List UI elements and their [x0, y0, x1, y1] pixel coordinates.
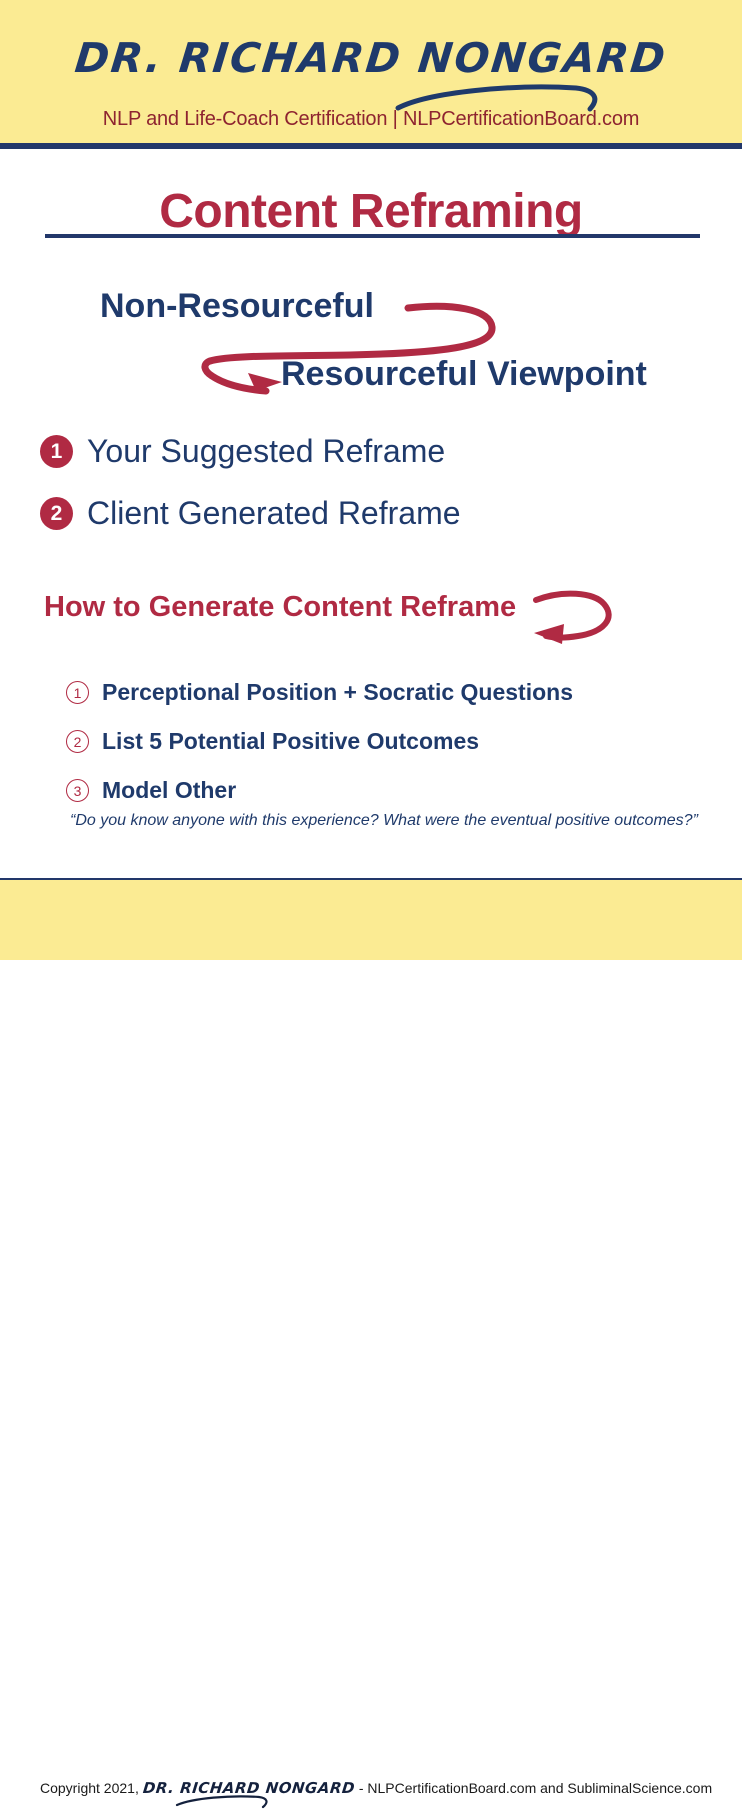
- list-item: 2 Client Generated Reframe: [40, 482, 700, 544]
- step-label: Perceptional Position + Socratic Questio…: [102, 679, 573, 706]
- number-badge: 2: [40, 497, 73, 530]
- reframe-flow: Non-Resourceful Resourceful Viewpoint: [0, 275, 742, 410]
- page-title: Content Reframing: [0, 184, 742, 239]
- step-number-badge: 3: [66, 779, 89, 802]
- header-tagline: NLP and Life-Coach Certification | NLPCe…: [0, 108, 742, 131]
- list-item: 1 Perceptional Position + Socratic Quest…: [66, 668, 726, 717]
- list-item: 1 Your Suggested Reframe: [40, 420, 700, 482]
- example-quote: “Do you know anyone with this experience…: [70, 812, 698, 830]
- reframe-type-list: 1 Your Suggested Reframe 2 Client Genera…: [40, 420, 700, 544]
- header-band: DR. RICHARD NONGARD NLP and Life-Coach C…: [0, 0, 742, 143]
- footer-brand-wrap: DR. RICHARD NONGARD: [143, 1779, 355, 1798]
- footer-credit-line: Copyright 2021, DR. RICHARD NONGARD - NL…: [40, 1779, 712, 1798]
- flow-to-label: Resourceful Viewpoint: [281, 355, 647, 394]
- howto-steps-list: 1 Perceptional Position + Socratic Quest…: [66, 668, 726, 815]
- list-item-label: Your Suggested Reframe: [87, 433, 445, 470]
- worksheet-page: DR. RICHARD NONGARD NLP and Life-Coach C…: [0, 0, 742, 960]
- title-underline: [45, 234, 700, 238]
- list-item: 2 List 5 Potential Positive Outcomes: [66, 717, 726, 766]
- header-divider: [0, 143, 742, 149]
- list-item-label: Client Generated Reframe: [87, 495, 461, 532]
- step-number-badge: 2: [66, 730, 89, 753]
- list-item: 3 Model Other: [66, 766, 726, 815]
- curved-arrow-back-left-icon: [528, 588, 620, 650]
- step-label: Model Other: [102, 777, 236, 804]
- footer-suffix: - NLPCertificationBoard.com and Sublimin…: [359, 1780, 712, 1796]
- underline-swoosh-icon: [175, 1794, 271, 1810]
- footer-band: Copyright 2021, DR. RICHARD NONGARD - NL…: [0, 880, 742, 960]
- header-brand-name: DR. RICHARD NONGARD: [0, 34, 742, 82]
- step-label: List 5 Potential Positive Outcomes: [102, 728, 479, 755]
- howto-heading: How to Generate Content Reframe: [44, 591, 516, 624]
- footer-copyright-prefix: Copyright 2021,: [40, 1780, 139, 1796]
- step-number-badge: 1: [66, 681, 89, 704]
- number-badge: 1: [40, 435, 73, 468]
